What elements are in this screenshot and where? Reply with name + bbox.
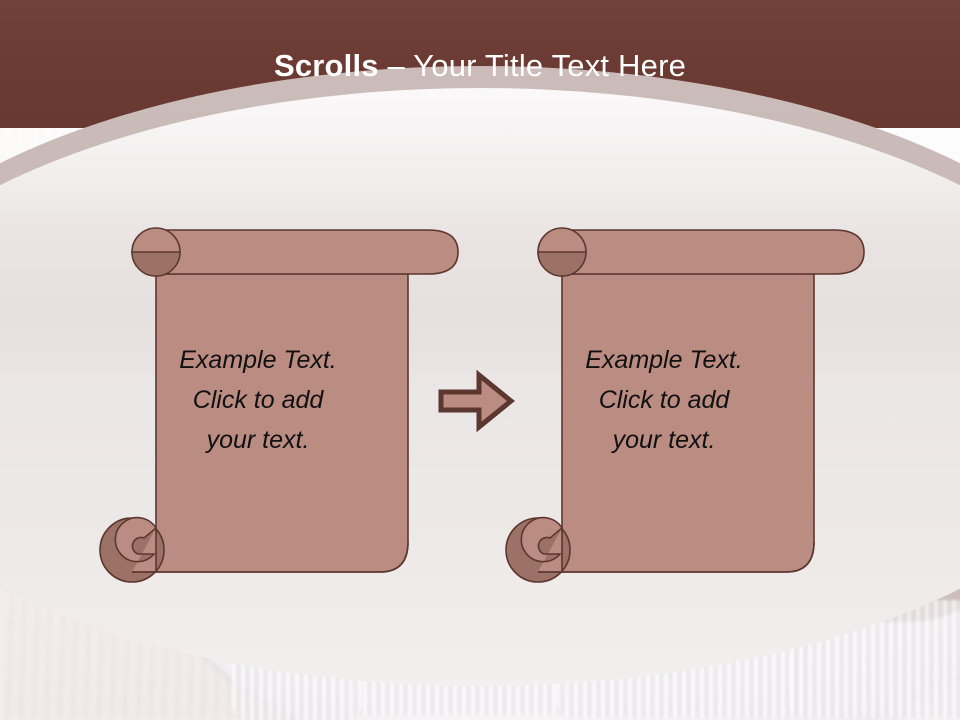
scroll-top-roll bbox=[562, 230, 864, 274]
right-scroll-text[interactable]: Example Text. Click to add your text. bbox=[528, 340, 800, 460]
page-title: Scrolls – Your Title Text Here bbox=[0, 48, 960, 84]
right-arrow-icon bbox=[437, 370, 515, 432]
page-title-strong: Scrolls bbox=[274, 48, 379, 83]
right-arrow-shape[interactable] bbox=[437, 370, 515, 432]
scroll-top-roll bbox=[156, 230, 458, 274]
right-scroll-shape[interactable]: Example Text. Click to add your text. bbox=[504, 212, 824, 582]
slide-canvas: ✴ ✴ ✴ ✴ Scrolls – Your Title Text Here bbox=[0, 0, 960, 720]
left-scroll-text[interactable]: Example Text. Click to add your text. bbox=[122, 340, 394, 460]
page-title-rest: – Your Title Text Here bbox=[379, 48, 686, 83]
left-scroll-shape[interactable]: Example Text. Click to add your text. bbox=[98, 212, 418, 582]
